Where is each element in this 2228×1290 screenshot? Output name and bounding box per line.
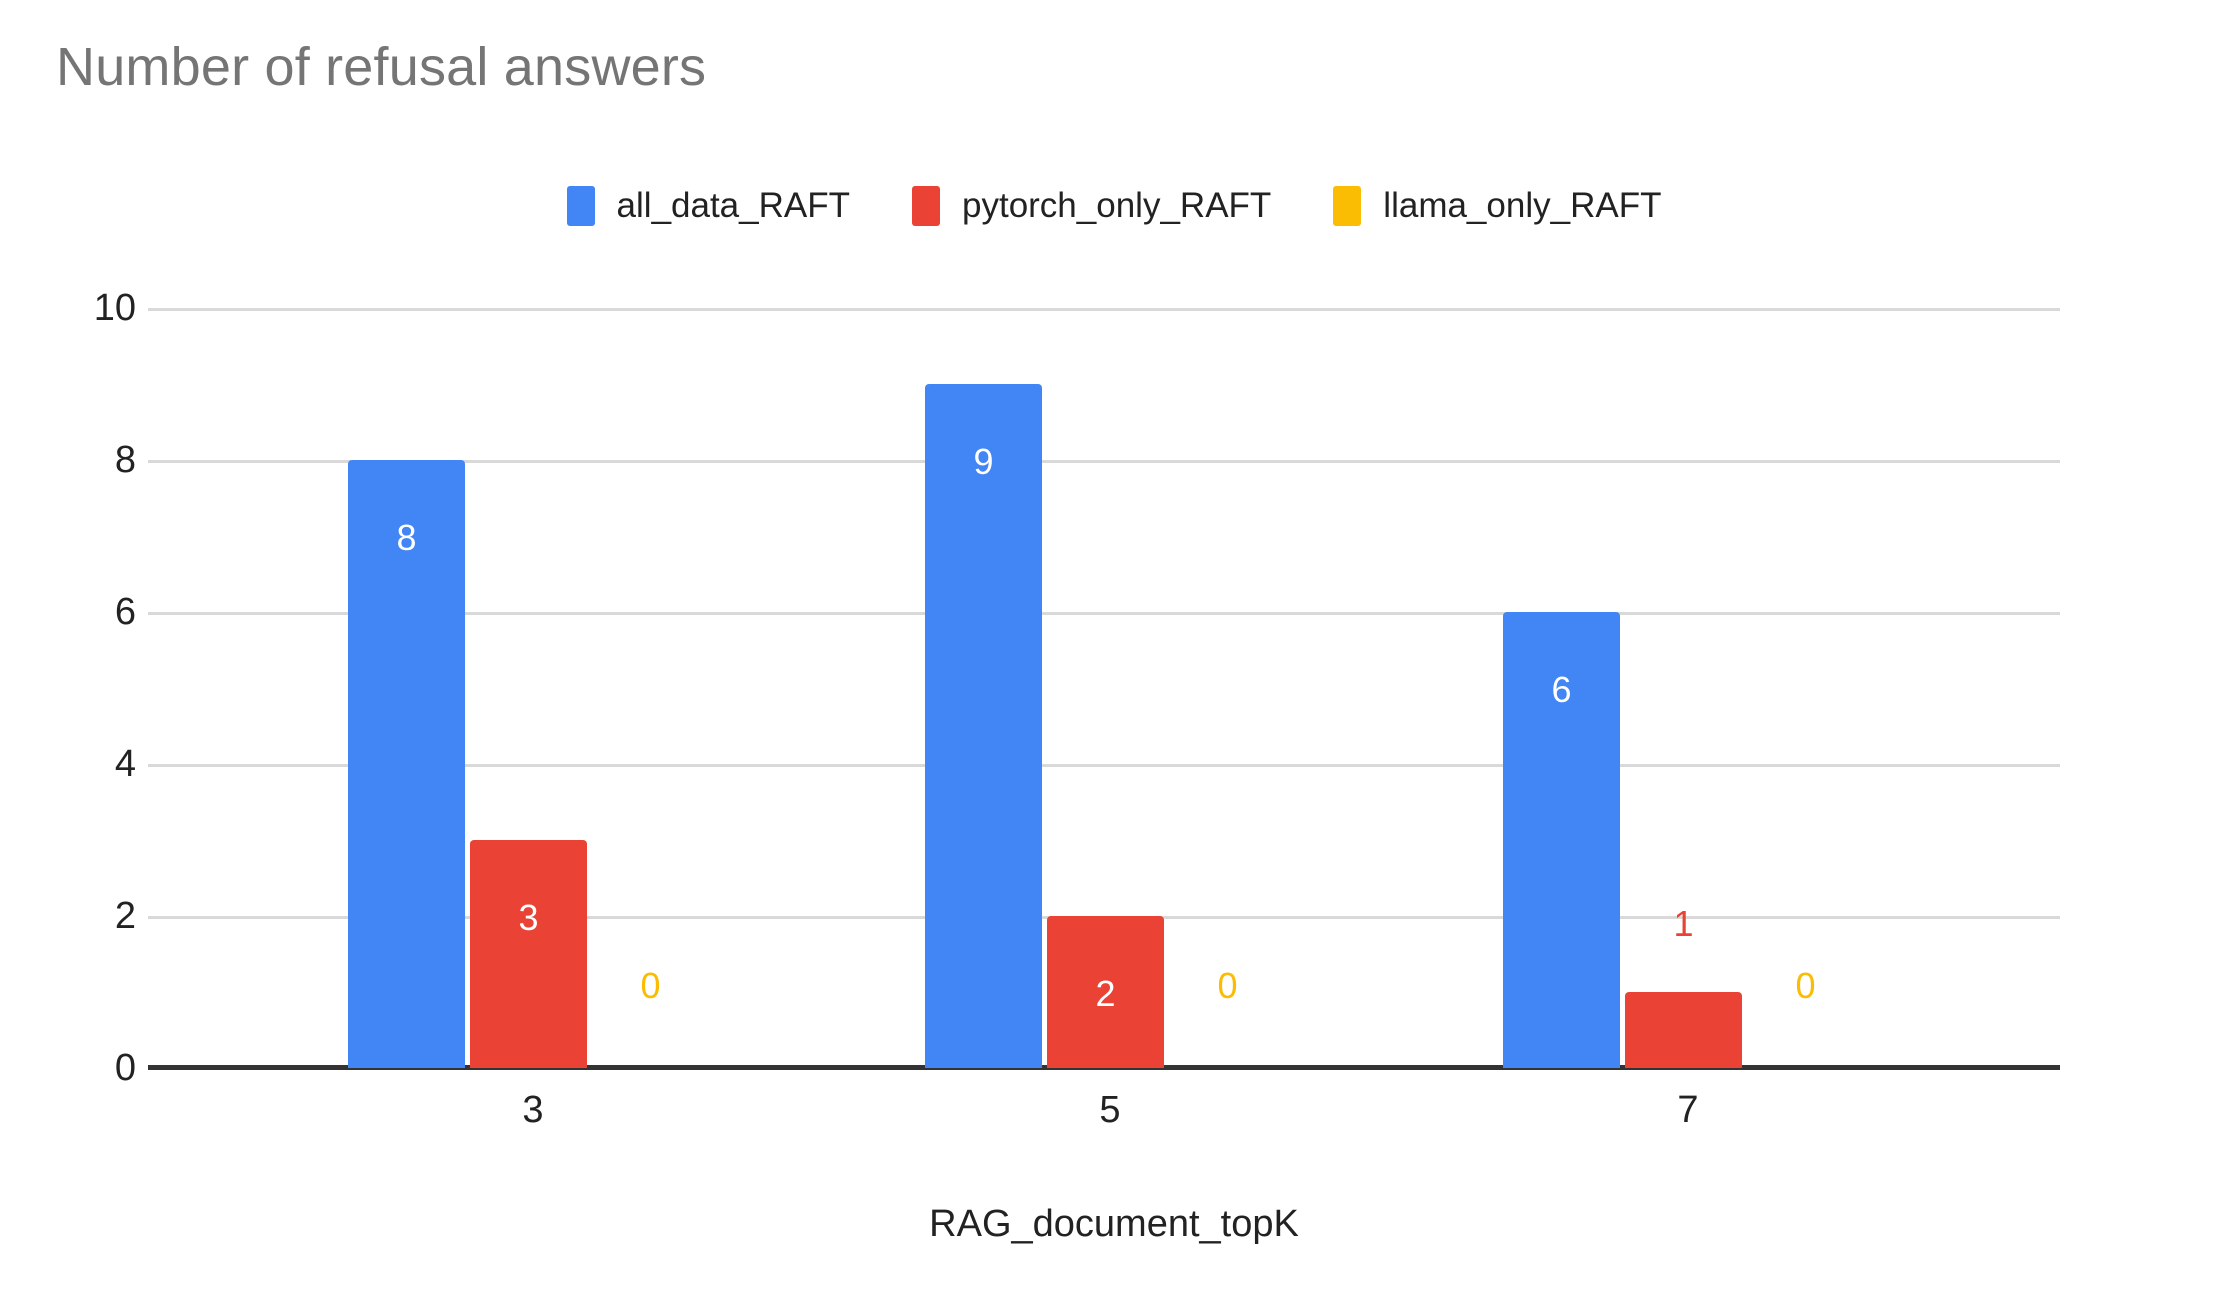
- legend-item-llama-only-raft[interactable]: llama_only_RAFT: [1333, 186, 1661, 226]
- legend-item-pytorch-only-raft[interactable]: pytorch_only_RAFT: [912, 186, 1271, 226]
- bar-pytorch-only-raft-5[interactable]: 2: [1047, 916, 1164, 1068]
- bar-pytorch-only-raft-7[interactable]: [1625, 992, 1742, 1068]
- chart-container: Number of refusal answers all_data_RAFT …: [0, 0, 2228, 1290]
- bar-value-label: 8: [348, 520, 465, 556]
- y-axis-tick-4: 4: [16, 745, 136, 783]
- plot-area: 8 3 0 9 2 0 6 1 0: [148, 308, 2060, 1068]
- bar-value-label-pytorch-only-raft-7: 1: [1625, 906, 1742, 942]
- legend-swatch-icon: [1333, 186, 1361, 226]
- y-axis-tick-8: 8: [16, 441, 136, 479]
- y-axis-tick-6: 6: [16, 593, 136, 631]
- legend-swatch-icon: [912, 186, 940, 226]
- bar-value-label: 3: [470, 900, 587, 936]
- chart-title: Number of refusal answers: [56, 34, 706, 100]
- y-axis-tick-10: 10: [16, 289, 136, 327]
- legend-item-label: all_data_RAFT: [617, 186, 850, 226]
- bar-all-data-raft-5[interactable]: 9: [925, 384, 1042, 1068]
- bar-value-label: 2: [1047, 976, 1164, 1012]
- bar-value-label-llama-only-raft-3: 0: [592, 968, 709, 1004]
- y-axis-tick-0: 0: [16, 1049, 136, 1087]
- legend-item-all-data-raft[interactable]: all_data_RAFT: [567, 186, 850, 226]
- bar-all-data-raft-3[interactable]: 8: [348, 460, 465, 1068]
- bar-all-data-raft-7[interactable]: 6: [1503, 612, 1620, 1068]
- legend-item-label: pytorch_only_RAFT: [962, 186, 1271, 226]
- legend-item-label: llama_only_RAFT: [1383, 186, 1661, 226]
- bar-value-label-llama-only-raft-5: 0: [1169, 968, 1286, 1004]
- x-axis-tick-7: 7: [1568, 1088, 1808, 1132]
- bar-value-label-llama-only-raft-7: 0: [1747, 968, 1864, 1004]
- gridline-10: [148, 308, 2060, 311]
- legend-swatch-icon: [567, 186, 595, 226]
- x-axis-tick-5: 5: [990, 1088, 1230, 1132]
- chart-legend: all_data_RAFT pytorch_only_RAFT llama_on…: [0, 186, 2228, 226]
- bar-value-label: 6: [1503, 672, 1620, 708]
- bar-pytorch-only-raft-3[interactable]: 3: [470, 840, 587, 1068]
- y-axis-tick-2: 2: [16, 897, 136, 935]
- x-axis-tick-3: 3: [413, 1088, 653, 1132]
- x-axis-title: RAG_document_topK: [0, 1202, 2228, 1246]
- bar-value-label: 9: [925, 444, 1042, 480]
